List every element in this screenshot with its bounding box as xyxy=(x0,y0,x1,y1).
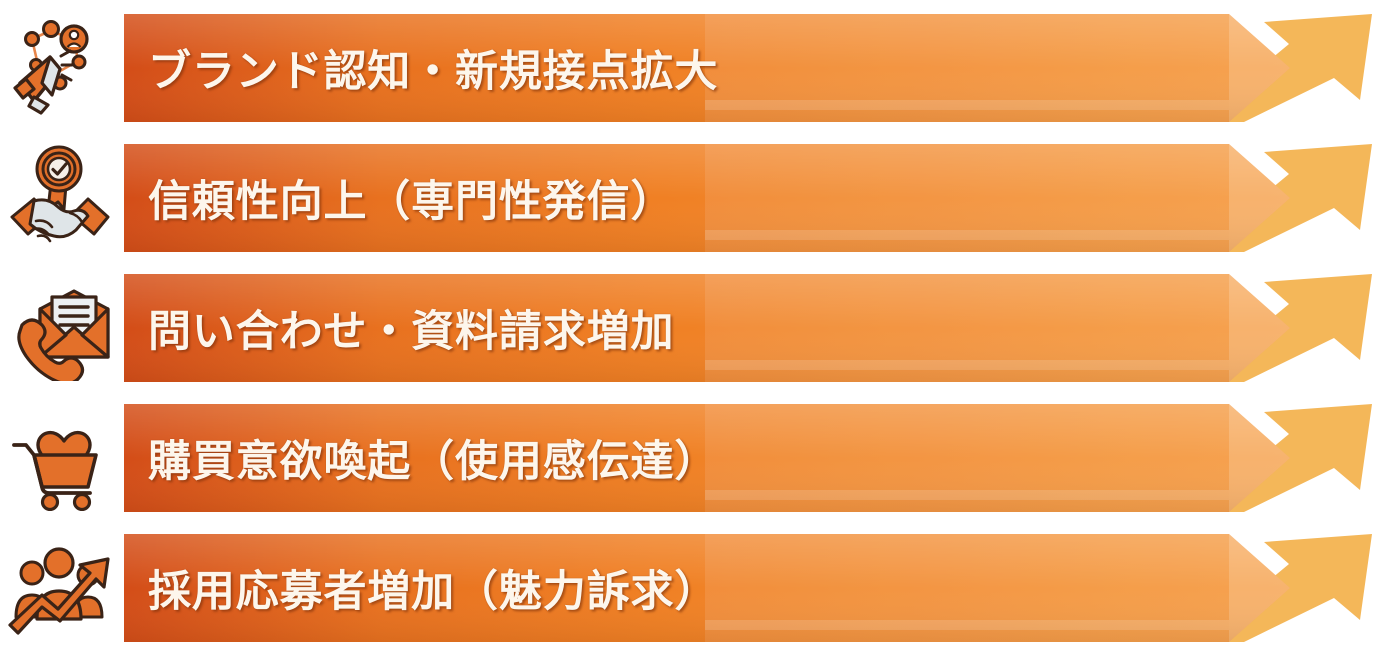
chevron-bar xyxy=(124,14,1372,122)
benefit-row: 問い合わせ・資料請求増加 xyxy=(0,260,1400,390)
people-growth-arrow-icon xyxy=(0,520,120,650)
chevron-bar xyxy=(124,274,1372,382)
benefit-row: 採用応募者増加（魅力訴求） xyxy=(0,520,1400,650)
envelope-phone-icon xyxy=(0,260,120,390)
benefits-chevron-list: ブランド認知・新規接点拡大 xyxy=(0,0,1400,658)
megaphone-network-icon xyxy=(0,0,120,130)
benefit-row: ブランド認知・新規接点拡大 xyxy=(0,0,1400,130)
handshake-badge-icon xyxy=(0,130,120,260)
benefit-row: 購買意欲喚起（使用感伝達） xyxy=(0,390,1400,520)
benefit-row: 信頼性向上（専門性発信） xyxy=(0,130,1400,260)
chevron-bar xyxy=(124,144,1372,252)
chevron-bar xyxy=(124,534,1372,642)
chevron-bar xyxy=(124,404,1372,512)
cart-heart-icon xyxy=(0,390,120,520)
